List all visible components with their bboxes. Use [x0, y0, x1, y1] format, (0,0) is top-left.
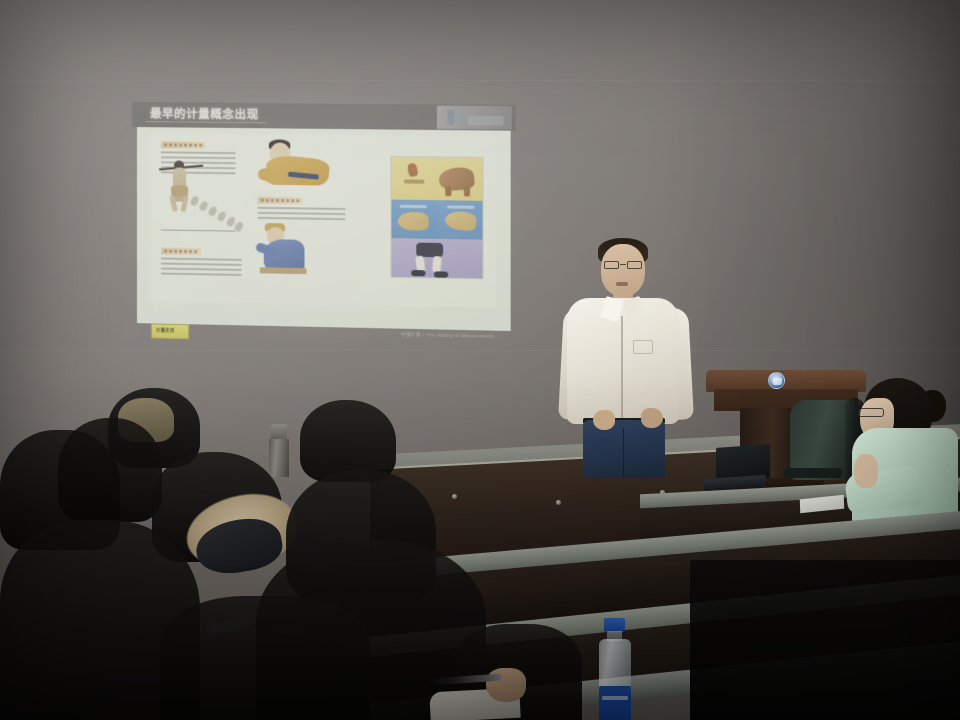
panel-running-figure — [392, 157, 484, 201]
measurement-scale-line — [161, 229, 235, 231]
lecture-hall-photo: 最早的计量概念出现 — [0, 0, 960, 720]
bottle-cap — [604, 618, 625, 632]
slide-title-bar: 最早的计量概念出现 — [132, 102, 516, 131]
woman-hand — [854, 454, 878, 488]
presenter-right-hand — [641, 408, 663, 428]
jeans-seam — [623, 428, 624, 478]
caption-text-3 — [161, 258, 242, 278]
caption-text-2 — [258, 207, 346, 220]
seated-woman — [846, 372, 960, 532]
thermos-flask — [268, 424, 290, 476]
glasses-icon — [858, 408, 884, 417]
slide-title: 最早的计量概念出现 — [150, 105, 259, 122]
presenter-mouth — [616, 282, 628, 286]
audience-hand — [486, 668, 526, 702]
projected-slide: 最早的计量概念出现 — [132, 102, 516, 336]
slide-badge-text: 计量史话 — [156, 328, 174, 334]
panel-hand-span-right — [438, 200, 484, 239]
title-underline — [146, 121, 267, 123]
presenter-shirt — [567, 298, 679, 424]
desk-shadow-right — [690, 560, 960, 720]
presenter — [555, 238, 695, 478]
footprint-trail — [191, 196, 243, 231]
stage-bolt — [452, 494, 457, 499]
four-panel-illustration — [390, 156, 483, 280]
slide-body: 计量史话 中国计量 / The History of Measurement — [137, 127, 511, 331]
panel-walking-pace — [392, 238, 484, 279]
caption-tag-1 — [161, 141, 205, 148]
presenter-shirt-pocket — [633, 340, 653, 354]
caption-tag-2 — [258, 197, 303, 205]
presenter-jeans — [583, 420, 665, 478]
panel-hand-span-left — [392, 200, 438, 239]
bottle-label — [599, 686, 631, 720]
caption-tag-3 — [161, 247, 201, 255]
audience-head — [58, 418, 162, 522]
presenter-head — [601, 244, 645, 296]
audience-shoulders-front — [160, 596, 370, 720]
stage-bolt — [556, 500, 561, 505]
slide-badge: 计量史话 — [151, 323, 189, 339]
water-bottle — [596, 618, 634, 720]
glasses-icon — [604, 261, 642, 269]
slide-content-area — [149, 133, 496, 308]
institution-watermark-icon — [437, 106, 512, 130]
presenter-left-hand — [593, 410, 615, 430]
presenter-shirt-placket — [621, 316, 623, 420]
university-crest-icon — [768, 372, 785, 389]
